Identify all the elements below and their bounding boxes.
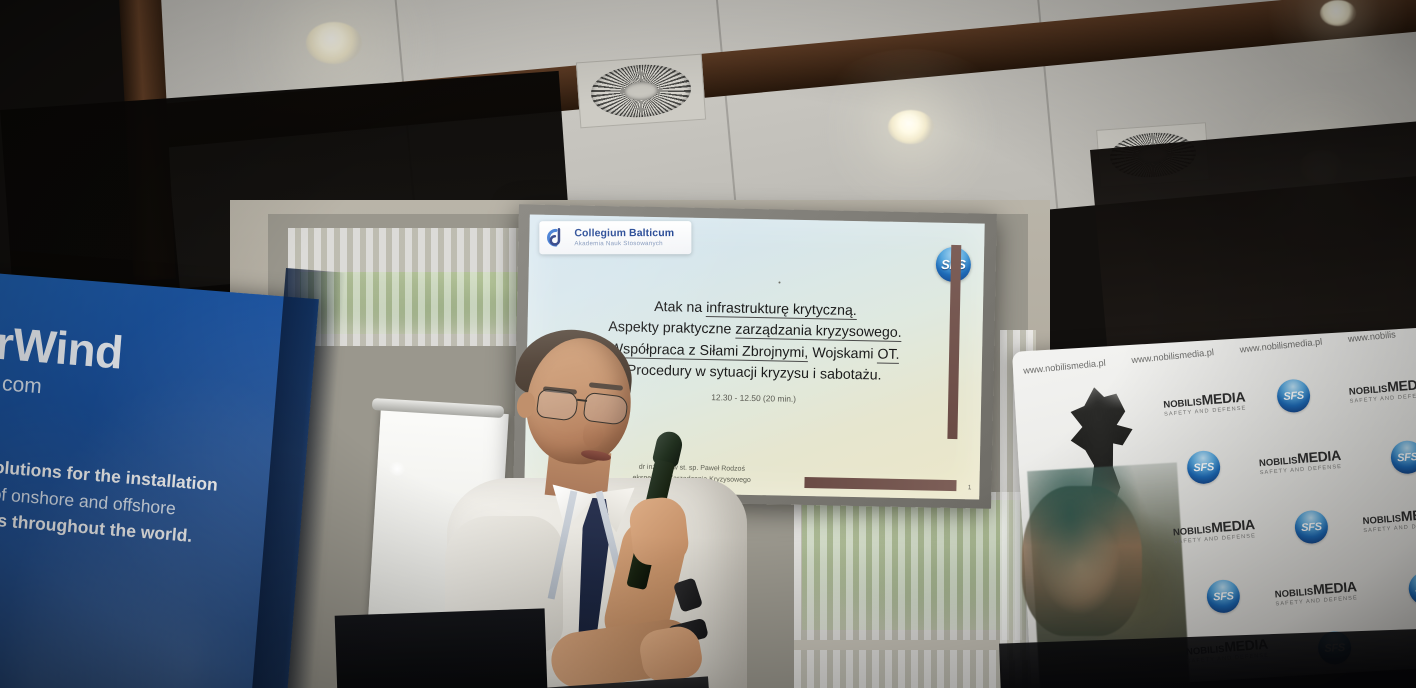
- sfs-badge-icon: SFS: [1408, 571, 1416, 606]
- slide-page-number: 1: [968, 484, 972, 491]
- sfs-badge-icon: SFS: [1390, 440, 1416, 475]
- sfs-badge-label: SFS: [1301, 520, 1322, 533]
- glasses-bridge: [577, 399, 587, 402]
- nobilis-media-logo: NOBILISMEDIA SAFETY AND DEFENSE: [1348, 377, 1416, 404]
- glasses-lens-right: [583, 392, 629, 426]
- ceiling-downlight: [1320, 0, 1356, 26]
- nobilis-media-logo: NOBILISMEDIA SAFETY AND DEFENSE: [1362, 506, 1416, 533]
- sfs-badge-label: SFS: [1193, 461, 1214, 474]
- backdrop-url: www.nobilismedia.pl: [1131, 347, 1214, 365]
- sfs-badge-icon: SFS: [1276, 378, 1311, 413]
- cb-logo-subtitle: Akademia Nauk Stosowanych: [574, 240, 674, 247]
- slide-accent-bar-horizontal: [804, 477, 956, 491]
- slide-decor-dot: [778, 281, 780, 283]
- cb-monogram-icon: [545, 226, 569, 250]
- nobilis-media-logo: NOBILISMEDIA SAFETY AND DEFENSE: [1163, 390, 1242, 417]
- backdrop-url: www.nobilis: [1347, 329, 1396, 344]
- backdrop-url: www.nobilismedia.pl: [1239, 337, 1322, 355]
- nobilis-media-wordmark: NOBILISMEDIA: [1362, 506, 1416, 526]
- backdrop-url: www.nobilismedia.pl: [1023, 358, 1106, 376]
- cb-logo-name: Collegium Balticum: [574, 229, 674, 240]
- sfs-badge-icon: SFS: [1294, 510, 1329, 545]
- nobilis-media-logo: NOBILISMEDIA SAFETY AND DEFENSE: [1172, 517, 1251, 544]
- glasses-lens-left: [536, 388, 579, 422]
- sfs-badge-label: SFS: [1213, 590, 1234, 603]
- audience-person-silhouette: [1022, 486, 1142, 636]
- ceiling-downlight: [306, 22, 362, 64]
- sfs-badge-label: SFS: [1283, 389, 1304, 402]
- sfs-badge-icon: SFS: [1206, 579, 1241, 614]
- ceiling-downlight: [888, 110, 934, 144]
- sfs-badge-label: SFS: [1397, 451, 1416, 464]
- sfs-badge-icon: SFS: [1186, 450, 1221, 485]
- foreground-table: [335, 608, 548, 688]
- media-main: MEDIA: [1400, 505, 1416, 524]
- ceiling-air-vent: [576, 54, 706, 129]
- nobilis-media-logo: NOBILISMEDIA SAFETY AND DEFENSE: [1274, 580, 1353, 607]
- flipchart-light-glint: [388, 462, 406, 476]
- speaker-hand-holding-microphone: [628, 495, 691, 566]
- media-main: MEDIA: [1387, 375, 1416, 394]
- collegium-balticum-logo: Collegium Balticum Akademia Nauk Stosowa…: [539, 221, 691, 254]
- presentation-photo-scene: airWind wind.com stop solutions for the …: [0, 0, 1416, 688]
- nobilis-media-logo: NOBILISMEDIA SAFETY AND DEFENSE: [1258, 448, 1337, 475]
